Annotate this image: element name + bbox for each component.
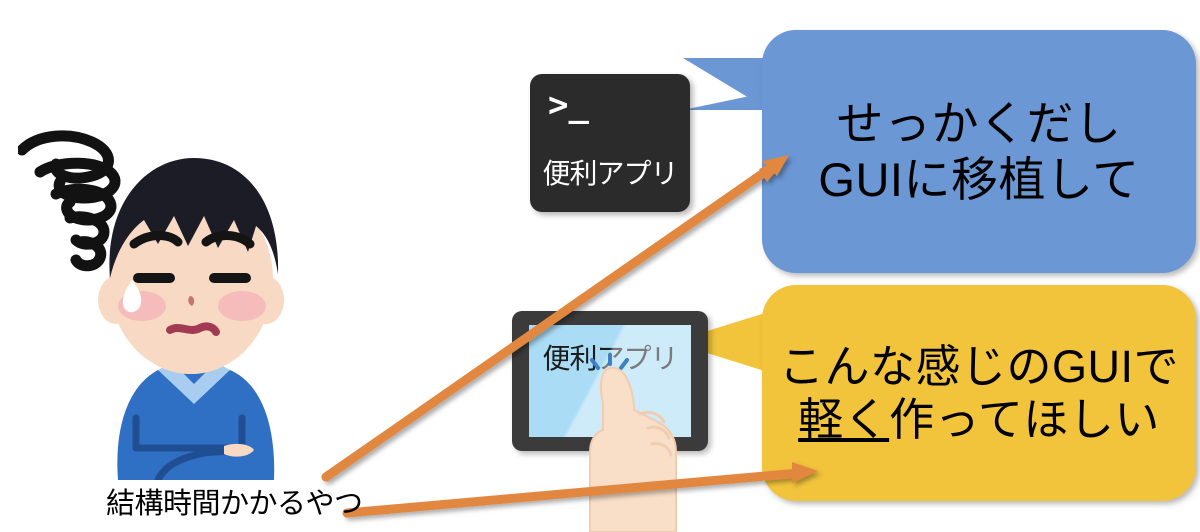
slide-canvas: せっかくだし GUIに移植して こんな感じのGUIで 軽く作ってほしい >_ 便… [0,0,1200,532]
annotation-arrows [0,0,1200,532]
arrow-to-orange-bubble-icon [347,462,818,513]
caption-text: 結構時間かかるやつ [106,480,363,522]
arrow-to-blue-bubble-icon [326,155,789,477]
